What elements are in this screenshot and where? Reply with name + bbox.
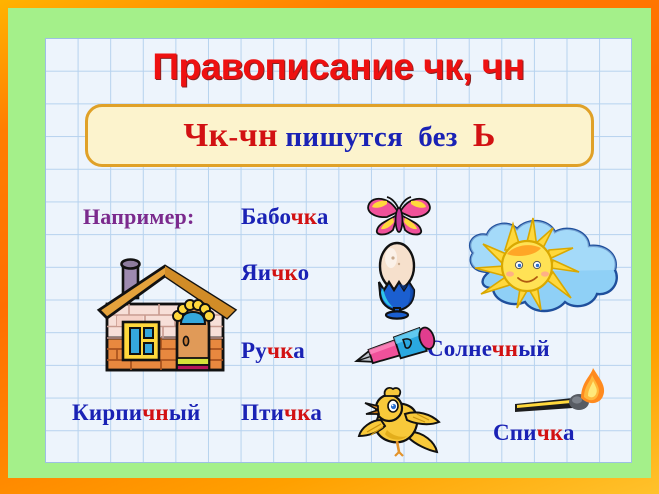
label-kirpichny: Кирпичный: [72, 400, 200, 426]
word-highlight: чн: [492, 336, 519, 361]
rule-part-soft-sign: Ь: [473, 117, 496, 154]
word-highlight: чк: [284, 400, 310, 425]
rule-part-pishutsya: пишутся: [285, 121, 403, 153]
word-highlight: чк: [291, 204, 317, 229]
brick-house-illustration: [93, 250, 243, 382]
bird-illustration: [357, 386, 443, 458]
label-ptichka: Птичка: [241, 400, 322, 426]
word-suffix: а: [310, 400, 322, 425]
rule-text: Чк-чн пишутся без Ь: [183, 117, 495, 155]
label-babochka: Бабочка: [241, 204, 329, 230]
pen-illustration: [351, 328, 443, 372]
word-suffix: ый: [169, 400, 201, 425]
word-suffix: о: [298, 260, 310, 285]
lit-match-illustration: [511, 368, 621, 424]
rule-part-chk: Чк: [183, 117, 228, 154]
word-highlight: чк: [271, 260, 297, 285]
inner-green-frame: Правописание чк, чн Чк-чн пишутся без Ь …: [8, 8, 651, 478]
rule-part-bez: без: [418, 121, 458, 153]
label-ruchka: Ручка: [241, 338, 305, 364]
grid-paper-panel: Правописание чк, чн Чк-чн пишутся без Ь …: [45, 38, 632, 463]
label-naprimer: Например:: [83, 204, 195, 230]
word-suffix: а: [293, 338, 305, 363]
word-prefix: Пти: [241, 400, 284, 425]
rule-callout-box: Чк-чн пишутся без Ь: [85, 104, 594, 167]
rule-part-chn: чн: [238, 117, 277, 154]
butterfly-illustration: [365, 192, 433, 238]
label-yaichko: Яичко: [241, 260, 309, 286]
word-suffix: ый: [518, 336, 550, 361]
word-suffix: а: [317, 204, 329, 229]
sun-and-cloud-illustration: [455, 210, 625, 328]
rule-part-dash: -: [229, 121, 239, 153]
slide-canvas: Правописание чк, чн Чк-чн пишутся без Ь …: [0, 0, 659, 494]
word-highlight: чк: [267, 338, 293, 363]
page-title: Правописание чк, чн: [45, 46, 632, 88]
egg-in-cup-illustration: [369, 240, 425, 318]
word-highlight: чн: [142, 400, 169, 425]
word-prefix: Бабо: [241, 204, 291, 229]
word-prefix: Кирпи: [72, 400, 142, 425]
word-prefix: Ру: [241, 338, 267, 363]
label-solnechny: Солнечный: [427, 336, 550, 362]
word-prefix: Яи: [241, 260, 271, 285]
